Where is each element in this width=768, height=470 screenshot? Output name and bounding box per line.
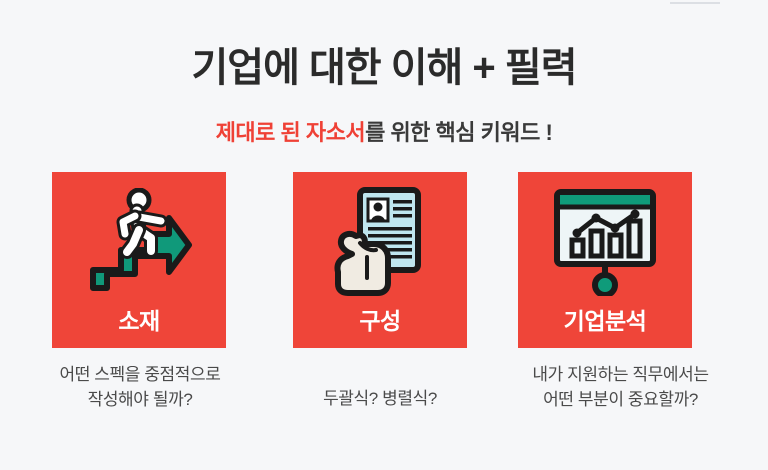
subtitle-highlight: 제대로 된 자소서 bbox=[216, 120, 365, 145]
caption-gieopbunseok-line1: 내가 지원하는 직무에서는 bbox=[478, 362, 763, 387]
person-climbing-stairs-arrow-icon bbox=[52, 186, 226, 298]
caption-guseong-line1: 두괄식? 병렬식? bbox=[280, 386, 480, 411]
caption-row: 어떤 스펙을 중점적으로 작성해야 될까? 두괄식? 병렬식? 내가 지원하는 … bbox=[0, 362, 768, 432]
caption-sojae-line2: 작성해야 될까? bbox=[10, 387, 270, 412]
caption-gieopbunseok: 내가 지원하는 직무에서는 어떤 부분이 중요할까? bbox=[478, 362, 763, 412]
card-sojae[interactable]: 소재 bbox=[52, 172, 226, 348]
card-label-guseong: 구성 bbox=[293, 307, 467, 335]
page-title: 기업에 대한 이해 + 필력 bbox=[0, 44, 768, 92]
hand-holding-resume-icon bbox=[293, 186, 467, 298]
card-row: 소재 bbox=[52, 172, 718, 348]
caption-sojae: 어떤 스펙을 중점적으로 작성해야 될까? bbox=[10, 362, 270, 412]
subtitle-rest: 를 위한 핵심 키워드 bbox=[365, 120, 540, 145]
subtitle-exclamation: ! bbox=[540, 120, 552, 145]
presentation-bar-chart-icon bbox=[518, 186, 692, 298]
card-label-sojae: 소재 bbox=[52, 307, 226, 335]
caption-sojae-line1: 어떤 스펙을 중점적으로 bbox=[10, 362, 270, 387]
top-divider-rule bbox=[670, 2, 720, 4]
page-subtitle: 제대로 된 자소서를 위한 핵심 키워드 ! bbox=[0, 118, 768, 148]
caption-guseong: 두괄식? 병렬식? bbox=[280, 386, 480, 411]
infographic-page: 기업에 대한 이해 + 필력 제대로 된 자소서를 위한 핵심 키워드 ! bbox=[0, 0, 768, 470]
card-label-gieopbunseok: 기업분석 bbox=[518, 307, 692, 335]
caption-gieopbunseok-line2: 어떤 부분이 중요할까? bbox=[478, 387, 763, 412]
card-gieopbunseok[interactable]: 기업분석 bbox=[518, 172, 692, 348]
card-guseong[interactable]: 구성 bbox=[293, 172, 467, 348]
